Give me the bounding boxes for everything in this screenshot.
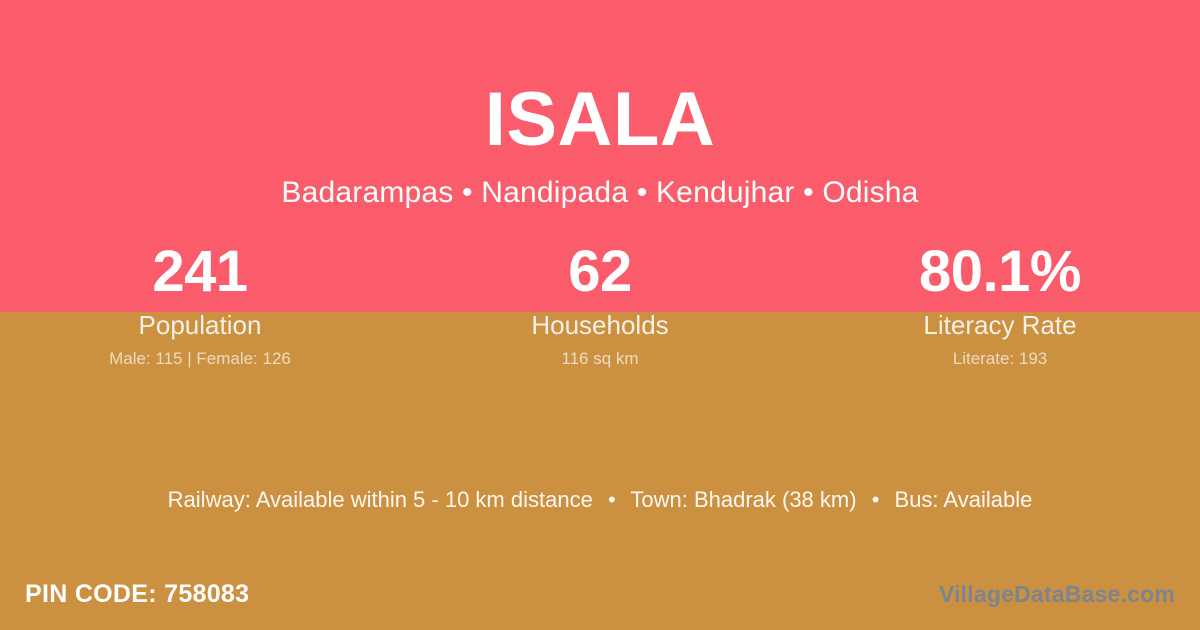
transport-separator-2: • — [863, 485, 889, 515]
stat-value-population: 241 — [0, 240, 400, 304]
village-name-title: ISALA — [0, 0, 1200, 158]
site-brand-watermark: VillageDataBase.com — [939, 581, 1175, 608]
stat-label-population: Population — [0, 310, 400, 340]
stat-population: 241 Population Male: 115 | Female: 126 — [0, 240, 400, 369]
card-header: ISALA Badarampas • Nandipada • Kendujhar… — [0, 0, 1200, 208]
stat-value-households: 62 — [400, 240, 800, 304]
stat-value-literacy-rate: 80.1% — [800, 240, 1200, 304]
transport-town: Town: Bhadrak (38 km) — [630, 487, 856, 512]
stat-households: 62 Households 116 sq km — [400, 240, 800, 369]
transport-info-line: Railway: Available within 5 - 10 km dist… — [0, 485, 1200, 515]
village-info-card: ISALA Badarampas • Nandipada • Kendujhar… — [0, 0, 1200, 630]
stat-sub-households: 116 sq km — [400, 349, 800, 369]
stat-sub-literacy-rate: Literate: 193 — [800, 349, 1200, 369]
stat-sub-population: Male: 115 | Female: 126 — [0, 349, 400, 369]
pin-code-label: PIN CODE: 758083 — [25, 580, 249, 609]
transport-separator-1: • — [599, 485, 625, 515]
stat-label-literacy-rate: Literacy Rate — [800, 310, 1200, 340]
transport-railway: Railway: Available within 5 - 10 km dist… — [168, 487, 593, 512]
stat-literacy-rate: 80.1% Literacy Rate Literate: 193 — [800, 240, 1200, 369]
village-location-breadcrumb: Badarampas • Nandipada • Kendujhar • Odi… — [0, 158, 1200, 208]
transport-bus: Bus: Available — [895, 487, 1033, 512]
statistics-row: 241 Population Male: 115 | Female: 126 6… — [0, 240, 1200, 369]
card-footer: PIN CODE: 758083 VillageDataBase.com — [0, 558, 1200, 630]
stat-label-households: Households — [400, 310, 800, 340]
